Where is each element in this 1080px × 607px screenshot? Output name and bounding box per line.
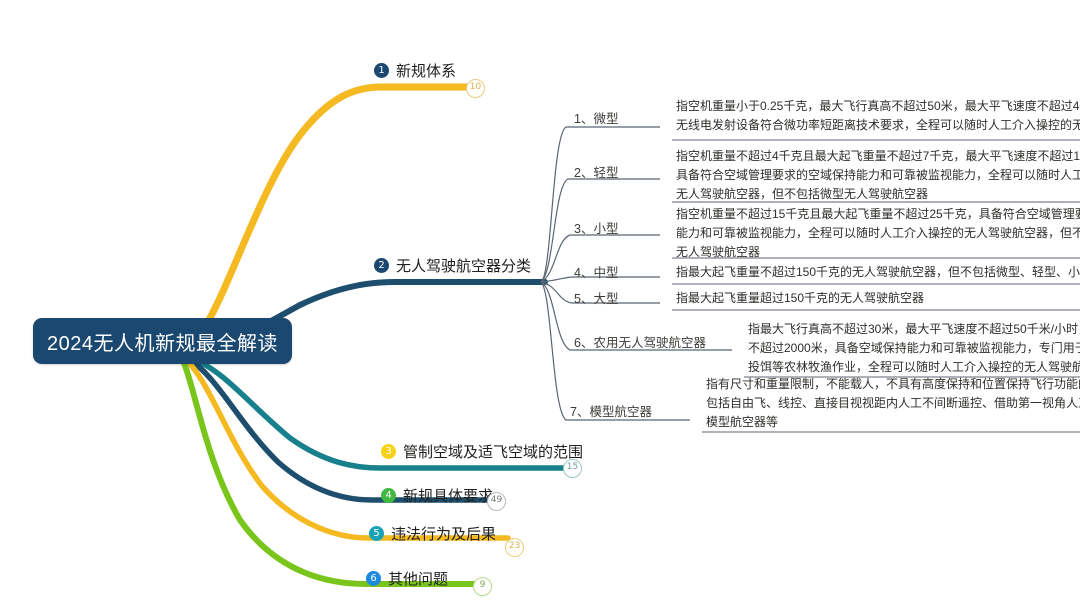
detail-block-7: 指有尺寸和重量限制，不能载人，不具有高度保持和位置保持飞行功能的无 包括自由飞、… [706,375,1080,432]
detail-block-3: 指空机重量不超过15千克且最大起飞重量不超过25千克，具备符合空域管理要求的 能… [676,205,1080,262]
mindmap-canvas: 2024无人机新规最全解读 1 新规体系 10 2 无人驾驶航空器分类 3 管制… [0,0,1080,607]
detail-line: 指最大飞行真高不超过30米，最大平飞速度不超过50千米/小时， [748,320,1080,339]
branch-line-4 [190,360,490,500]
branch-label-2: 无人驾驶航空器分类 [396,255,531,276]
branch-label-5: 违法行为及后果 [391,523,496,544]
detail-line: 无线电发射设备符合微功率短距离技术要求，全程可以随时人工介入操控的无人驾 [676,116,1080,135]
detail-block-2: 指空机重量不超过4千克且最大起飞重量不超过7千克，最大平飞速度不超过100千 具… [676,147,1080,204]
root-node[interactable]: 2024无人机新规最全解读 [33,318,292,364]
sub-label-6[interactable]: 6、农用无人驾驶航空器 [574,332,706,351]
sub-label-2[interactable]: 2、轻型 [574,162,618,181]
detail-line: 包括自由飞、线控、直接目视视距内人工不间断遥控、借助第一视角人工不 [706,394,1080,413]
branch-number-icon-4: 4 [381,488,396,503]
detail-block-4: 指最大起飞重量不超过150千克的无人驾驶航空器，但不包括微型、轻型、小型无 [676,263,1080,282]
detail-line: 无人驾驶航空器，但不包括微型无人驾驶航空器 [676,185,1080,204]
detail-line: 能力和可靠被监视能力，全程可以随时人工介入操控的无人驾驶航空器，但不包括 [676,224,1080,243]
detail-block-6: 指最大飞行真高不超过30米，最大平飞速度不超过50千米/小时， 不超过2000米… [748,320,1080,377]
branch-label-3: 管制空域及适飞空域的范围 [403,441,583,462]
branch-line-6 [182,358,478,584]
sub-label-4[interactable]: 4、中型 [574,262,618,281]
branch-badge-3: 15 [563,459,582,478]
branch-node-5[interactable]: 5 违法行为及后果 [369,523,496,544]
branch-label-1: 新规体系 [396,60,456,81]
branch-line-1 [180,87,470,352]
branch-number-icon-1: 1 [374,63,389,78]
branch-number-icon-6: 6 [366,571,381,586]
detail-line: 指空机重量不超过4千克且最大起飞重量不超过7千克，最大平飞速度不超过100千 [676,147,1080,166]
detail-line: 指有尺寸和重量限制，不能载人，不具有高度保持和位置保持飞行功能的无 [706,375,1080,394]
branch-node-3[interactable]: 3 管制空域及适飞空域的范围 [381,441,583,462]
branch-node-6[interactable]: 6 其他问题 [366,568,448,589]
sub-label-7[interactable]: 7、模型航空器 [570,401,652,420]
branch-node-1[interactable]: 1 新规体系 [374,60,456,81]
branch-node-2[interactable]: 2 无人驾驶航空器分类 [374,255,531,276]
detail-line: 模型航空器等 [706,413,1080,432]
branch-number-icon-2: 2 [374,258,389,273]
branch-label-4: 新规具体要求 [403,485,493,506]
branch-badge-5: 23 [505,538,524,557]
branch-number-icon-3: 3 [381,444,396,459]
branch-label-6: 其他问题 [388,568,448,589]
branch-badge-1: 10 [466,79,485,98]
detail-line: 指空机重量小于0.25千克，最大飞行真高不超过50米，最大平飞速度不超过40千米 [676,97,1080,116]
detail-line: 指最大起飞重量超过150千克的无人驾驶航空器 [676,289,924,308]
subbranch-line-1 [541,127,660,282]
sub-label-3[interactable]: 3、小型 [574,218,618,237]
detail-line: 无人驾驶航空器 [676,243,1080,262]
detail-line: 具备符合空域管理要求的空域保持能力和可靠被监视能力，全程可以随时人工介入 [676,166,1080,185]
detail-line: 指最大起飞重量不超过150千克的无人驾驶航空器，但不包括微型、轻型、小型无 [676,263,1080,282]
branch-number-icon-5: 5 [369,526,384,541]
sub-label-1[interactable]: 1、微型 [574,108,618,127]
detail-line: 不超过2000米，具备空域保持能力和可靠被监视能力，专门用于 [748,339,1080,358]
detail-block-1: 指空机重量小于0.25千克，最大飞行真高不超过50米，最大平飞速度不超过40千米… [676,97,1080,135]
root-title: 2024无人机新规最全解读 [47,327,278,356]
branch-badge-6: 9 [473,577,492,596]
sub-label-5[interactable]: 5、大型 [574,288,618,307]
branch-badge-4: 49 [487,492,506,511]
branch-node-4[interactable]: 4 新规具体要求 [381,485,493,506]
detail-line: 指空机重量不超过15千克且最大起飞重量不超过25千克，具备符合空域管理要求的 [676,205,1080,224]
detail-block-5: 指最大起飞重量超过150千克的无人驾驶航空器 [676,289,924,308]
